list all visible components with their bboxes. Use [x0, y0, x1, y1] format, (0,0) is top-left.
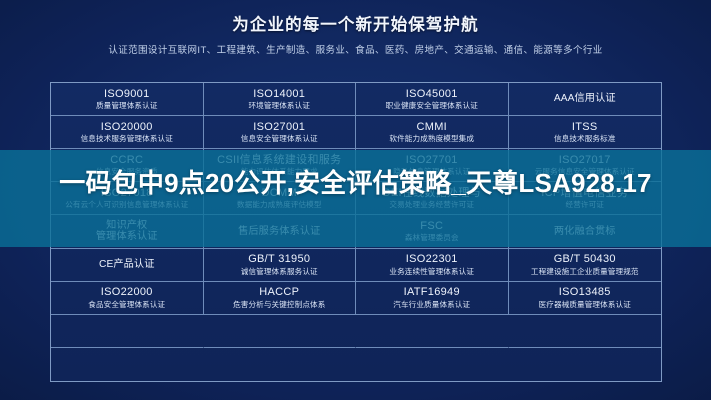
certification-cell: ISO27017云服务信息安全管理体系认证	[509, 149, 662, 182]
certification-cell: CCRC信息安全服务资质	[51, 149, 204, 182]
certification-cell: 两化融合贯标	[509, 215, 662, 248]
certification-code: ISO45001	[406, 88, 458, 100]
certification-cell: GB/T 50430工程建设施工企业质量管理规范	[509, 249, 662, 282]
certification-cell: DCMM数据能力成熟度评估模型	[204, 182, 357, 215]
certification-code: HACCP	[259, 286, 299, 298]
certification-code: DCMM	[262, 187, 297, 199]
certification-description: 工程建设施工企业质量管理规范	[531, 268, 639, 277]
certification-cell: ISO13485医疗器械质量管理体系认证	[509, 282, 662, 315]
certification-code: ISO22301	[406, 253, 458, 265]
grid-cell-empty	[356, 348, 509, 381]
grid-cell-empty	[204, 315, 357, 348]
certification-description: AAA信用认证	[554, 93, 616, 104]
certification-cell: ISO45001职业健康安全管理体系认证	[356, 83, 509, 116]
certification-description: 隐私信息管理体系认证	[393, 168, 470, 177]
certification-code: IATF16949	[404, 286, 460, 298]
certification-code: CMMI	[416, 121, 447, 133]
certification-description: 知识产权 管理体系认证	[96, 220, 158, 243]
certification-code: ITSS	[572, 121, 598, 133]
certification-description: 信息技术服务管理体系认证	[81, 135, 173, 144]
grid-cell-empty	[204, 348, 357, 381]
certification-description: 医疗器械质量管理体系认证	[539, 301, 631, 310]
certification-description: 森林管理委员会	[405, 234, 459, 243]
certification-description: 危害分析与关键控制点体系	[233, 301, 325, 310]
certification-cell: ITSS信息技术服务标准	[509, 116, 662, 149]
certification-description: 能力评估体系能力要求	[241, 168, 318, 177]
grid-cell-empty	[356, 315, 509, 348]
certification-cell: HACCP危害分析与关键控制点体系	[204, 282, 357, 315]
grid-cell-empty	[51, 315, 204, 348]
certification-cell: ISO20000信息技术服务管理体系认证	[51, 116, 204, 149]
page-subtitle: 认证范围设计互联网IT、工程建筑、生产制造、服务业、食品、医药、房地产、交通运输…	[0, 45, 711, 56]
certification-code: FSC	[420, 220, 443, 232]
certification-code: ISO22000	[101, 286, 153, 298]
certification-code: GB/T 31950	[248, 253, 310, 265]
certification-code: ICP增值电信业务	[541, 187, 628, 199]
certification-code: ISO27001	[253, 121, 305, 133]
certification-description: 信息安全服务资质	[96, 168, 158, 177]
certification-description: 业务连续性管理体系认证	[389, 268, 474, 277]
certification-cell: DEI在线数据处理与交易处理业务经营许可证	[356, 182, 509, 215]
certification-cell: ISO27001信息安全管理体系认证	[204, 116, 357, 149]
certification-cell: ISO27018公有云个人可识别信息管理体系认证	[51, 182, 204, 215]
certification-cell: CSII信息系统建设和服务能力评估体系能力要求	[204, 149, 357, 182]
poster-header: 为企业的每一个新开始保驾护航 认证范围设计互联网IT、工程建筑、生产制造、服务业…	[0, 16, 711, 56]
certification-code: ISO27018	[101, 187, 153, 199]
certification-description: 数据能力成熟度评估模型	[237, 201, 322, 210]
certification-cell: IATF16949汽车行业质量体系认证	[356, 282, 509, 315]
certification-cell: ISO22000食品安全管理体系认证	[51, 282, 204, 315]
certification-description: 售后服务体系认证	[238, 226, 320, 237]
certification-description: 云服务信息安全管理体系认证	[535, 168, 635, 177]
certification-description: 经营许可证	[566, 201, 604, 210]
certification-description: 公有云个人可识别信息管理体系认证	[65, 201, 188, 210]
certification-cell: ISO14001环境管理体系认证	[204, 83, 357, 116]
certification-code: CCRC	[110, 154, 143, 166]
certification-code: CSII信息系统建设和服务	[217, 154, 341, 166]
certification-poster: 为企业的每一个新开始保驾护航 认证范围设计互联网IT、工程建筑、生产制造、服务业…	[0, 0, 711, 400]
certification-code: ISO13485	[559, 286, 611, 298]
certification-description: 环境管理体系认证	[248, 102, 310, 111]
certification-code: ISO27017	[559, 154, 611, 166]
certification-description: 软件能力成熟度模型集成	[389, 135, 474, 144]
certification-description: 交易处理业务经营许可证	[389, 201, 474, 210]
certification-cell: FSC森林管理委员会	[356, 215, 509, 248]
certification-description: 信息安全管理体系认证	[241, 135, 318, 144]
certification-cell: ISO27701隐私信息管理体系认证	[356, 149, 509, 182]
certification-cell: 售后服务体系认证	[204, 215, 357, 248]
grid-cell-empty	[51, 348, 204, 381]
certification-cell: CMMI软件能力成熟度模型集成	[356, 116, 509, 149]
certification-cell: ICP增值电信业务经营许可证	[509, 182, 662, 215]
page-title: 为企业的每一个新开始保驾护航	[0, 16, 711, 36]
certification-code: GB/T 50430	[554, 253, 616, 265]
certification-code: DEI在线数据处理与	[383, 187, 481, 199]
certification-code: ISO20000	[101, 121, 153, 133]
certification-cell: 知识产权 管理体系认证	[51, 215, 204, 248]
certification-description: 两化融合贯标	[554, 226, 616, 237]
grid-cell-empty	[509, 348, 662, 381]
certification-description: 质量管理体系认证	[96, 102, 158, 111]
certification-code: ISO27701	[406, 154, 458, 166]
certification-description: 职业健康安全管理体系认证	[386, 102, 478, 111]
certification-description: CE产品认证	[99, 259, 155, 270]
certification-code: ISO14001	[253, 88, 305, 100]
certification-cell: ISO9001质量管理体系认证	[51, 83, 204, 116]
certification-cell: GB/T 31950诚信管理体系服务认证	[204, 249, 357, 282]
certification-description: 诚信管理体系服务认证	[241, 268, 318, 277]
certification-cell: ISO22301业务连续性管理体系认证	[356, 249, 509, 282]
certification-grid: ISO9001质量管理体系认证ISO14001环境管理体系认证ISO45001职…	[50, 82, 662, 382]
certification-code: ISO9001	[104, 88, 150, 100]
certification-description: 汽车行业质量体系认证	[393, 301, 470, 310]
grid-cell-empty	[509, 315, 662, 348]
certification-cell: CE产品认证	[51, 249, 204, 282]
certification-description: 食品安全管理体系认证	[88, 301, 165, 310]
certification-description: 信息技术服务标准	[554, 135, 616, 144]
certification-cell: AAA信用认证	[509, 83, 662, 116]
